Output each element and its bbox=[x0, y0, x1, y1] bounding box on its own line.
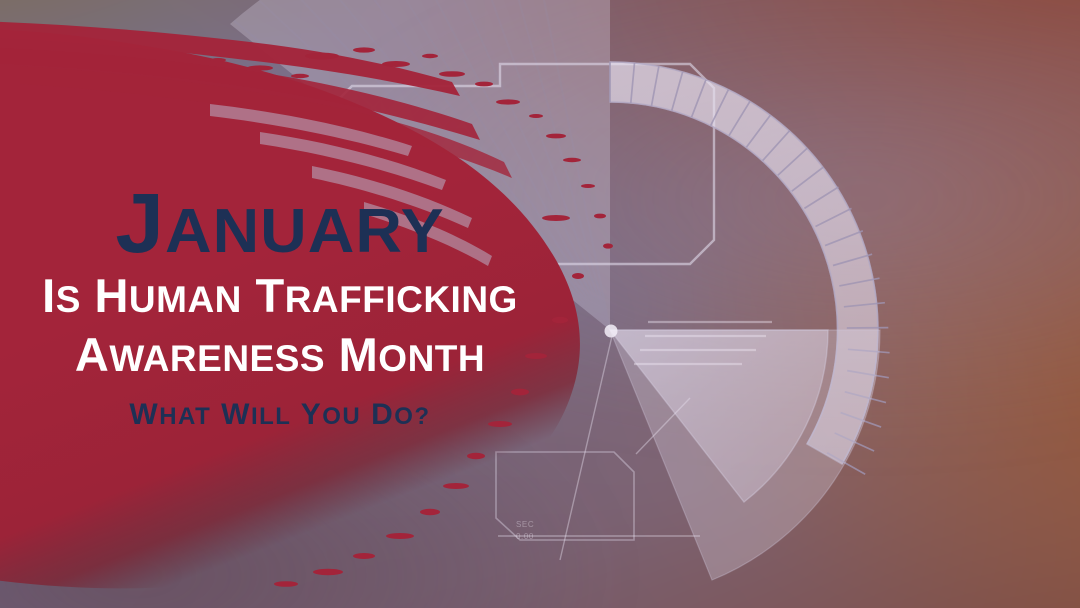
headline-block: JANUARY IS HUMAN TRAFFICKING AWARENESS M… bbox=[0, 182, 560, 430]
sub2-w2-initial: M bbox=[339, 328, 379, 381]
kicker-w4-initial: D bbox=[371, 398, 394, 431]
kicker-w2-rest: ILL bbox=[251, 403, 292, 430]
subtitle-line-2: AWARENESS MONTH bbox=[0, 329, 560, 382]
page-title: JANUARY bbox=[0, 182, 571, 264]
kicker-question: WHAT WILL YOU DO? bbox=[0, 400, 560, 430]
sub1-w3-rest: RAFFICKING bbox=[285, 279, 518, 320]
sub1-w2-initial: H bbox=[94, 269, 128, 322]
sub1-w1-rest: S bbox=[56, 279, 81, 320]
sub1-w3-initial: T bbox=[255, 269, 284, 322]
kicker-w2-initial: W bbox=[221, 398, 251, 431]
sub1-w2-rest: UMAN bbox=[129, 279, 242, 320]
subtitle-line-1: IS HUMAN TRAFFICKING bbox=[0, 270, 560, 323]
kicker-w1-initial: W bbox=[129, 398, 159, 431]
poster-canvas: JANUARY IS HUMAN TRAFFICKING AWARENESS M… bbox=[0, 0, 1080, 608]
title-rest: ANUARY bbox=[165, 197, 445, 266]
hud-microtext: SEC 0.00 bbox=[516, 519, 534, 543]
kicker-w3-rest: OU bbox=[322, 403, 361, 430]
title-initial: J bbox=[115, 176, 165, 270]
sub2-w2-rest: ONTH bbox=[378, 338, 485, 379]
hud-microtext-line-1: SEC bbox=[516, 519, 534, 531]
sub2-w1-initial: A bbox=[75, 328, 109, 381]
sub1-w1-initial: I bbox=[42, 269, 56, 322]
kicker-w1-rest: HAT bbox=[159, 403, 211, 430]
kicker-w4-rest: O? bbox=[394, 403, 430, 430]
kicker-w3-initial: Y bbox=[301, 398, 323, 431]
hud-microtext-line-2: 0.00 bbox=[516, 531, 534, 543]
sub2-w1-rest: WARENESS bbox=[109, 338, 325, 379]
